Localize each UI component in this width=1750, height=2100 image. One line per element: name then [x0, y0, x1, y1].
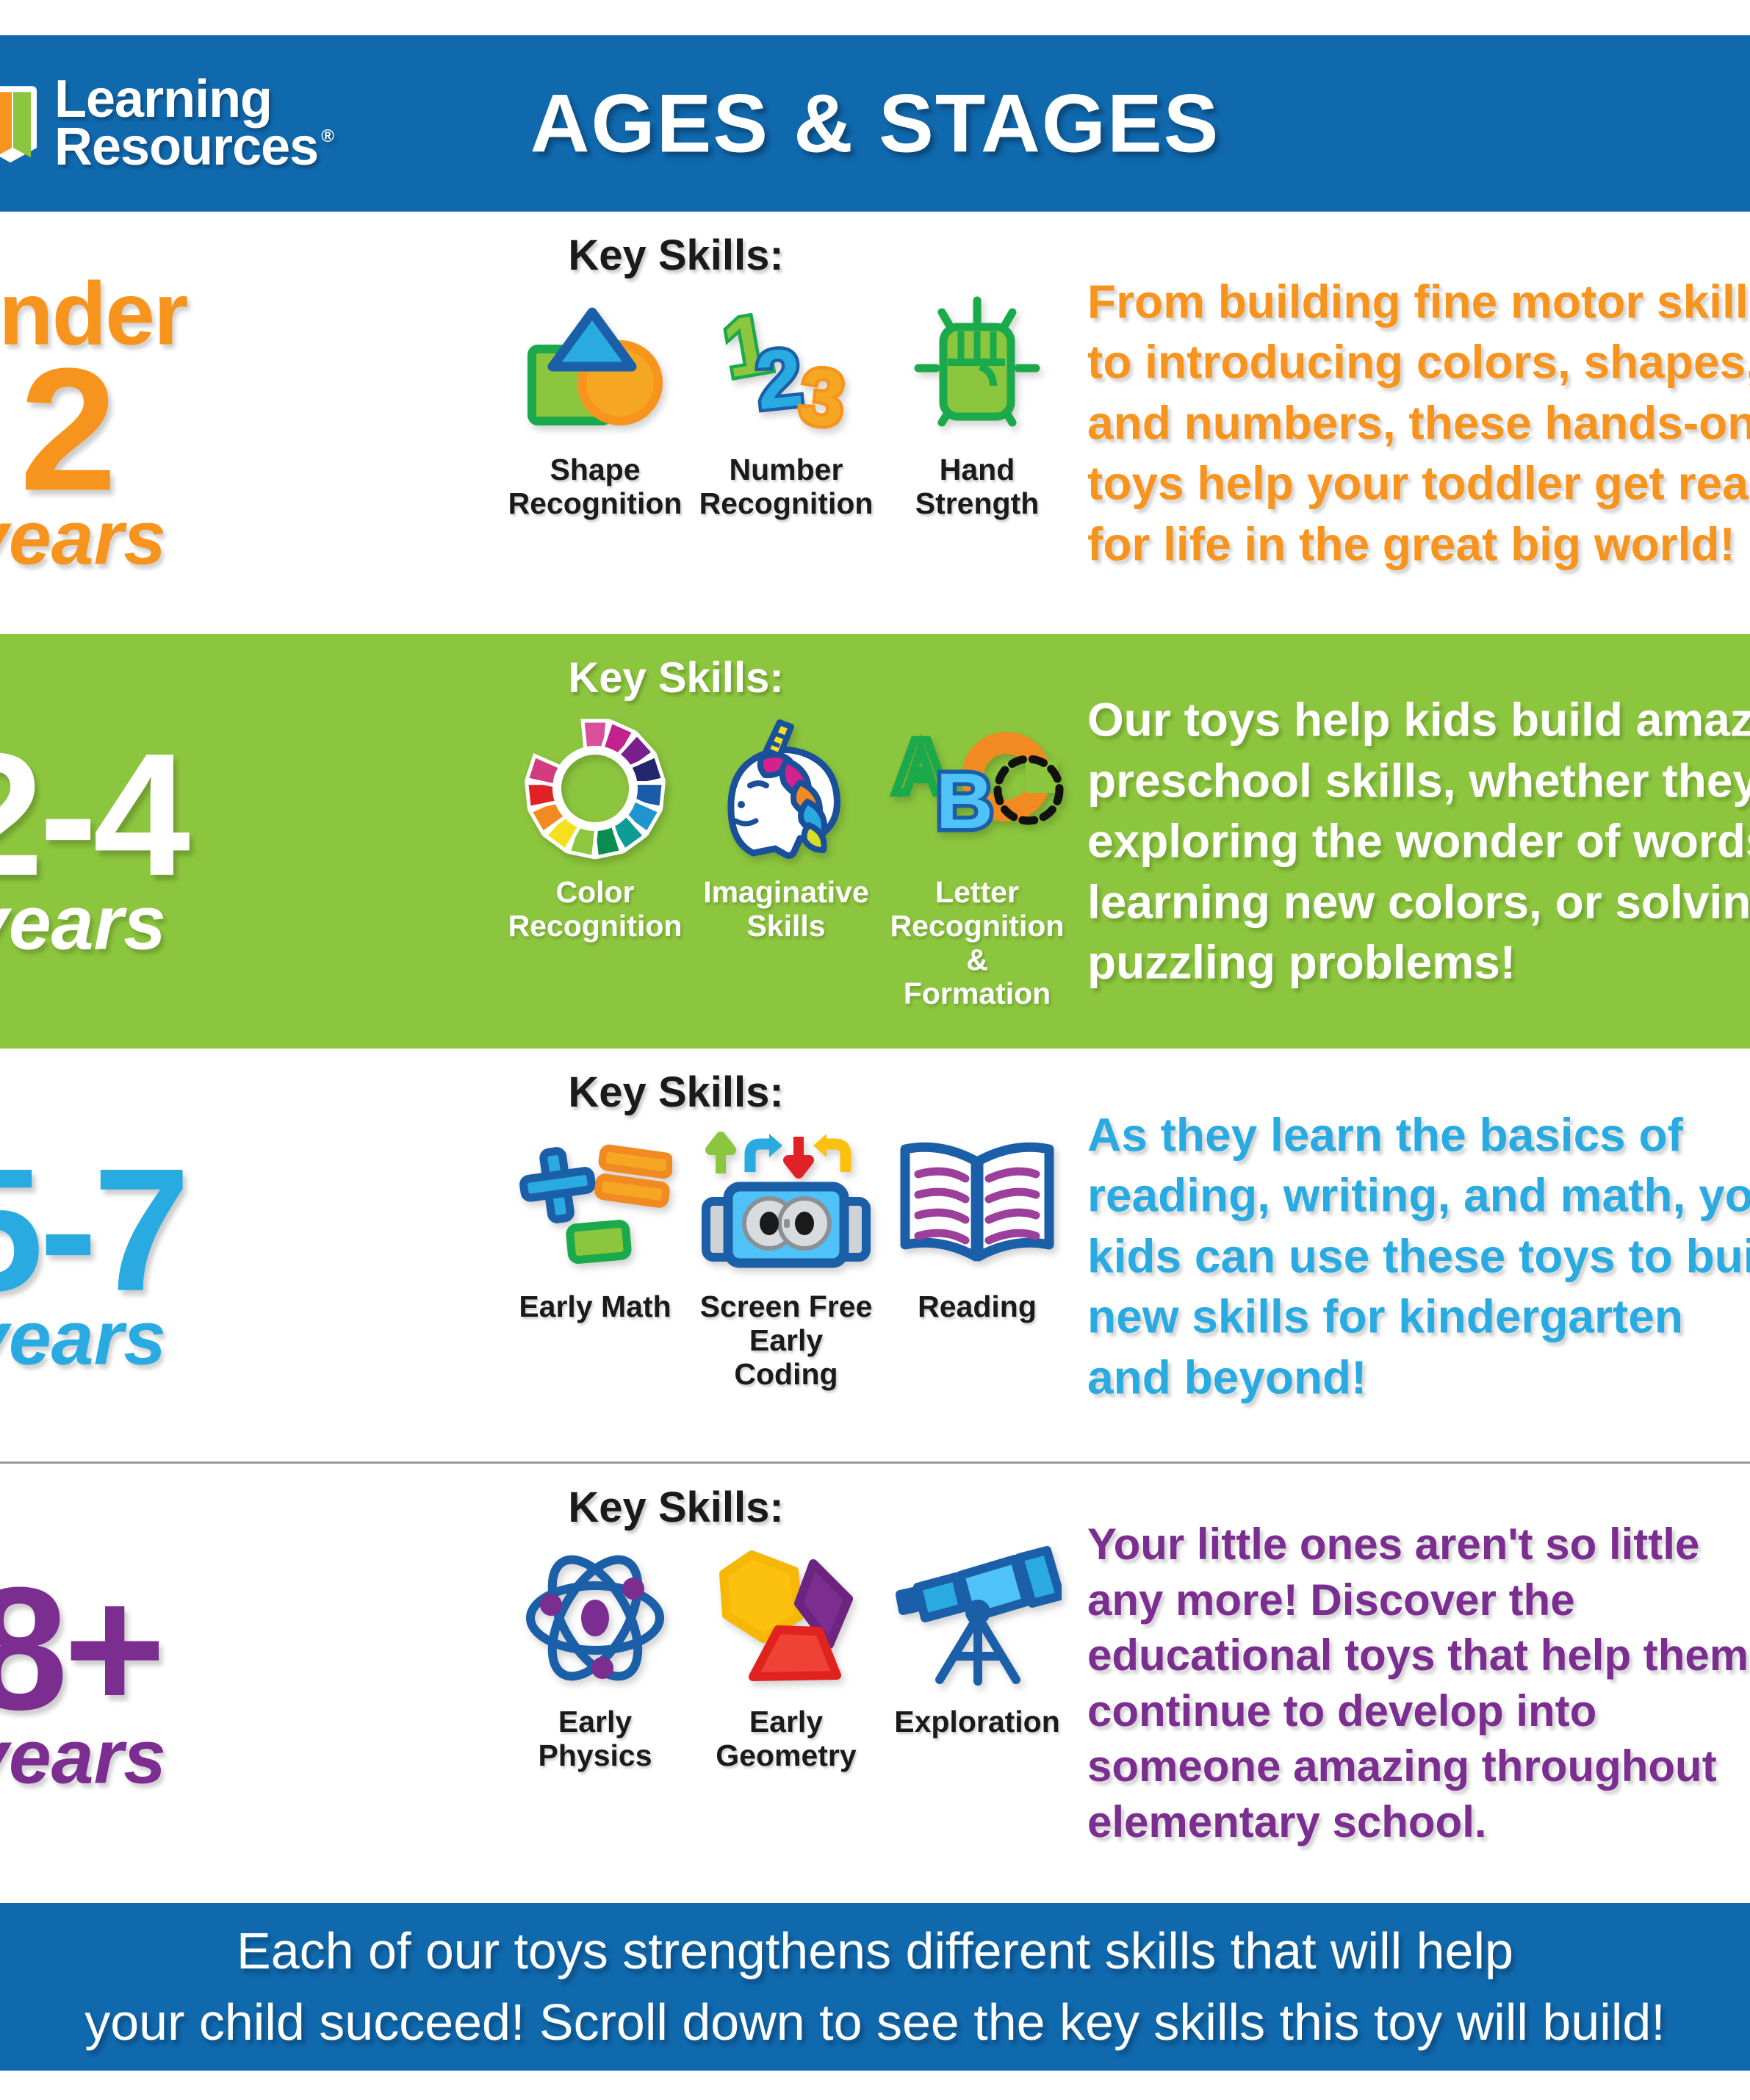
math-symbols-icon	[518, 1126, 672, 1280]
age-unit: years	[0, 503, 242, 574]
section-description: Our toys help kids build amazing prescho…	[1087, 690, 1750, 993]
open-book-icon	[896, 1126, 1058, 1280]
section-under-2: under 2 years Key Skills: Shape	[0, 212, 1750, 634]
skills-group-8-plus: Key Skills:	[507, 1464, 1065, 1903]
section-description: As they learn the basics of reading, wri…	[1087, 1104, 1750, 1408]
skill-shape-recognition[interactable]: Shape Recognition	[507, 289, 683, 521]
numbers-123-icon: 1 2 3	[713, 289, 860, 443]
skills-group-2-4: Key Skills:	[507, 634, 1065, 1049]
skill-reading[interactable]: Reading	[889, 1126, 1065, 1324]
section-5-7: 5-7 years Key Skills:	[0, 1049, 1750, 1464]
skill-label: Hand Strength	[889, 453, 1065, 521]
geometry-shapes-icon	[707, 1541, 865, 1695]
page-title: AGES & STAGES	[0, 76, 1750, 171]
skill-early-physics[interactable]: Early Physics	[507, 1541, 683, 1773]
skill-imaginative-skills[interactable]: Imaginative Skills	[698, 711, 874, 943]
skill-label: Screen Free Early Coding	[698, 1290, 874, 1392]
skill-row: Color Recognition	[507, 711, 1065, 1041]
skill-label: Letter Recognition & Formation	[889, 876, 1065, 1011]
unicorn-icon	[709, 711, 863, 866]
key-skills-heading: Key Skills:	[507, 653, 845, 702]
abc-letters-icon: A B	[889, 711, 1065, 866]
age-number: 8+	[0, 1569, 242, 1730]
skill-label: Early Physics	[507, 1705, 683, 1773]
section-8-plus: 8+ years Key Skills:	[0, 1464, 1750, 1903]
age-unit: years	[0, 889, 242, 960]
skill-exploration[interactable]: Exploration	[889, 1541, 1065, 1739]
fist-strength-icon	[904, 289, 1051, 443]
age-unit: years	[0, 1723, 242, 1794]
section-description: Your little ones aren't so little any mo…	[1087, 1517, 1750, 1850]
age-label-under-2: under 2 years	[0, 272, 242, 574]
skill-label: Shape Recognition	[508, 453, 683, 521]
age-number: 5-7	[0, 1150, 242, 1311]
shapes-icon	[522, 289, 669, 443]
skill-screen-free-coding[interactable]: Screen Free Early Coding	[698, 1126, 874, 1392]
skill-label: Exploration	[894, 1705, 1060, 1739]
skill-label: Imaginative Skills	[703, 876, 869, 943]
skill-color-recognition[interactable]: Color Recognition	[507, 711, 683, 943]
skill-label: Early Geometry	[716, 1705, 856, 1773]
skill-label: Number Recognition	[699, 453, 874, 521]
page-header: Learning Resources ® AGES & STAGES	[0, 35, 1750, 212]
skill-hand-strength[interactable]: Hand Strength	[889, 289, 1065, 521]
age-number: 2-4	[0, 736, 242, 896]
skills-group-under-2: Key Skills: Shape Recognition	[507, 212, 1065, 634]
page-footer: Each of our toys strengthens different s…	[0, 1903, 1750, 2071]
color-wheel-icon	[522, 711, 669, 866]
skill-row: Early Physics Early Geometry	[507, 1541, 1065, 1896]
age-label-2-4: 2-4 years	[0, 740, 242, 960]
svg-text:B: B	[936, 756, 993, 845]
skill-row: Shape Recognition 1 2 3 Number Re	[507, 289, 1065, 627]
key-skills-heading: Key Skills:	[507, 1483, 845, 1532]
infographic-page: Learning Resources ® AGES & STAGES under…	[0, 0, 1750, 2100]
skill-label: Color Recognition	[508, 876, 683, 943]
svg-text:3: 3	[796, 350, 849, 436]
age-label-8-plus: 8+ years	[0, 1574, 242, 1794]
atom-icon	[522, 1541, 669, 1695]
footer-message: Each of our toys strengthens different s…	[0, 1916, 1750, 2057]
section-description: From building fine motor skills to intro…	[1087, 271, 1750, 575]
footer-line-2: your child succeed! Scroll down to see t…	[0, 1987, 1750, 2058]
key-skills-heading: Key Skills:	[507, 1068, 845, 1117]
skill-early-math[interactable]: Early Math	[507, 1126, 683, 1324]
skill-label: Reading	[918, 1290, 1037, 1324]
skill-label: Early Math	[519, 1290, 671, 1324]
skill-row: Early Math	[507, 1126, 1065, 1456]
skills-group-5-7: Key Skills:	[507, 1049, 1065, 1464]
skill-early-geometry[interactable]: Early Geometry	[698, 1541, 874, 1773]
age-unit: years	[0, 1303, 242, 1374]
telescope-icon	[893, 1541, 1062, 1695]
age-number: 2	[0, 350, 242, 511]
coding-robot-icon	[702, 1126, 871, 1280]
skill-number-recognition[interactable]: 1 2 3 Number Recognition	[698, 289, 874, 521]
skill-letter-recognition[interactable]: A B Letter Recognition & Formation	[889, 711, 1065, 1011]
age-label-5-7: 5-7 years	[0, 1154, 242, 1374]
section-2-4: 2-4 years Key Skills:	[0, 634, 1750, 1049]
key-skills-heading: Key Skills:	[507, 231, 845, 280]
footer-line-1: Each of our toys strengthens different s…	[237, 1922, 1513, 1979]
